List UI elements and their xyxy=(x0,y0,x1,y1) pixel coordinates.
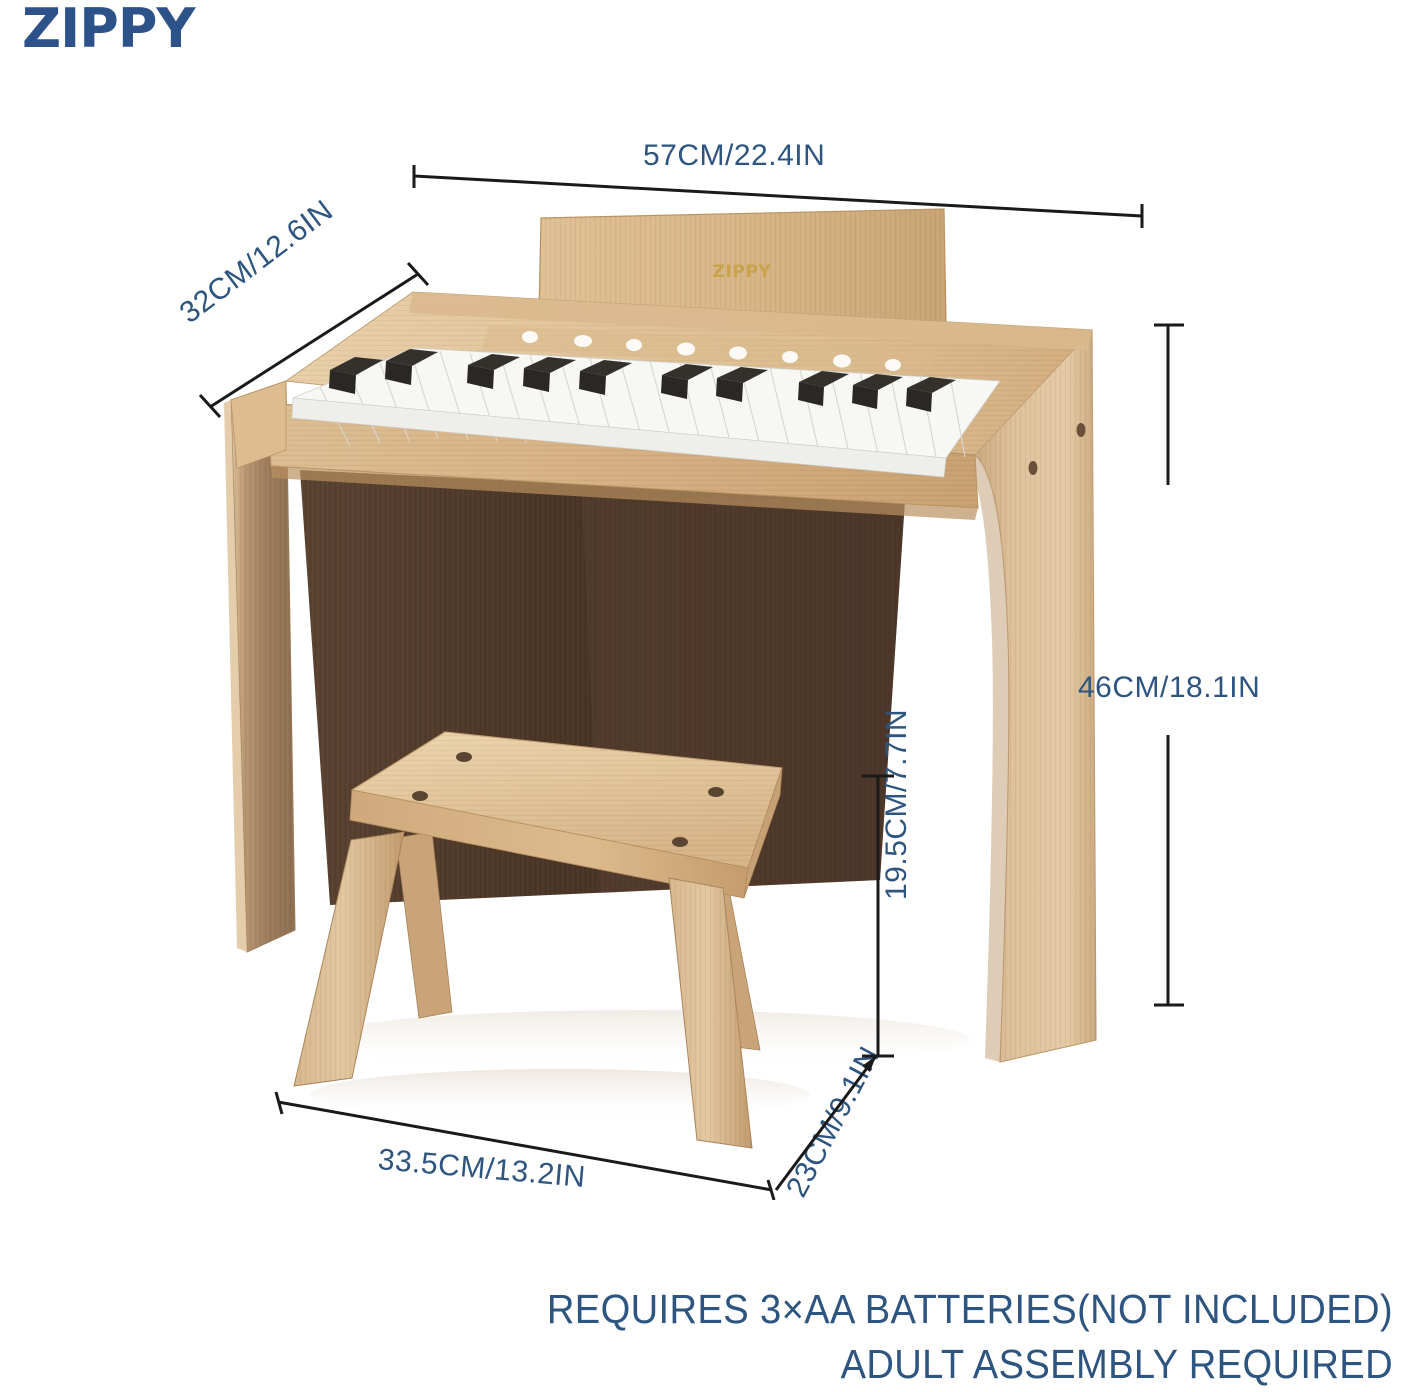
screw-hole xyxy=(672,837,688,847)
power-icon xyxy=(522,331,538,343)
screw-hole xyxy=(1029,461,1038,475)
bench-top-surface xyxy=(352,732,782,868)
dimension-line-bench-height xyxy=(850,760,910,1070)
demo-icon xyxy=(782,351,798,363)
piano-back-panel xyxy=(300,470,905,905)
control-panel-icons[interactable] xyxy=(522,331,901,371)
product-notes: REQUIRES 3×AA BATTERIES(NOT INCLUDED) AD… xyxy=(13,1282,1393,1391)
bench-leg-back-left xyxy=(396,832,452,1018)
dimension-line-depth xyxy=(190,255,440,425)
screw-hole xyxy=(708,787,724,797)
note-icon xyxy=(574,335,592,347)
dimension-line-bench-width xyxy=(260,1070,790,1200)
play-icon xyxy=(729,347,747,360)
bench-leg-front-left xyxy=(294,832,404,1086)
bench-top-edge-right xyxy=(744,768,782,898)
bench-screw-holes xyxy=(412,752,724,847)
tone-icon xyxy=(885,359,901,371)
dimension-line-height xyxy=(1140,315,1200,1025)
piano-left-leg xyxy=(224,381,295,952)
bench-top-edge xyxy=(350,790,748,898)
product-dimension-diagram: ZIPPY xyxy=(0,0,1405,1392)
screw-hole xyxy=(412,791,428,801)
record-icon xyxy=(677,343,695,356)
dimension-line-width xyxy=(400,160,1160,230)
piano-right-leg xyxy=(962,330,1096,1062)
product-badge: ZIPPY xyxy=(713,262,772,282)
volume-icon xyxy=(626,339,642,351)
screw-hole xyxy=(1077,423,1086,437)
notes-line-assembly: ADULT ASSEMBLY REQUIRED xyxy=(110,1337,1393,1392)
notes-line-batteries: REQUIRES 3×AA BATTERIES(NOT INCLUDED) xyxy=(110,1282,1393,1337)
brand-logo: ZIPPY xyxy=(22,2,195,56)
bench-leg-back-right xyxy=(693,868,760,1050)
screw-hole xyxy=(456,752,472,762)
rhythm-icon xyxy=(833,355,851,368)
